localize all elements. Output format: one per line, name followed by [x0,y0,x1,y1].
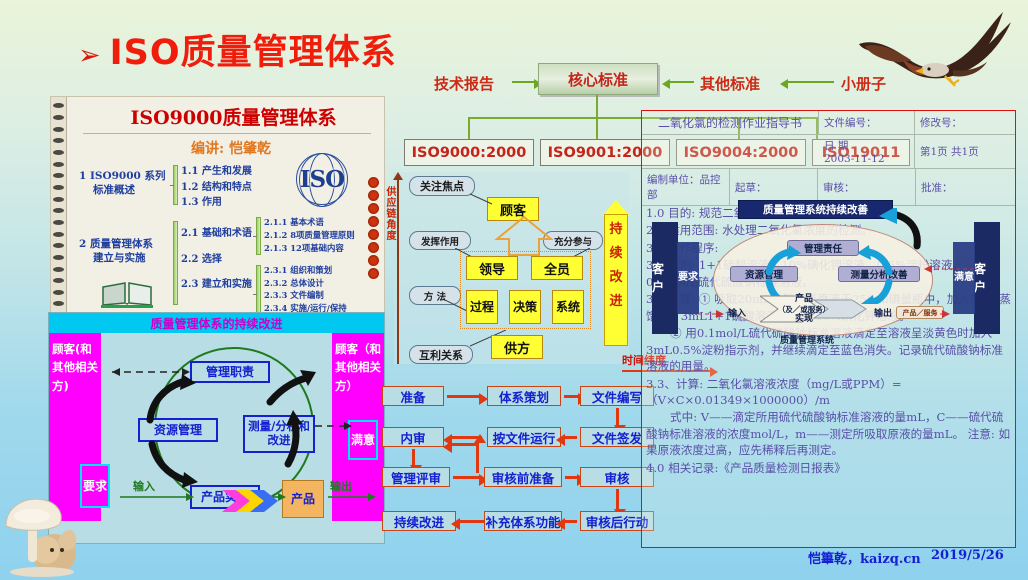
book-title: ISO9000质量管理体系 [91,103,376,130]
sublist-item: 2.2 选择 [181,247,252,273]
principle-decision[interactable]: 决策 [509,290,541,324]
qms-customer-right: 客 户 [974,222,1000,334]
book-sublist-2: 2.1 基础和术语 2.2 选择 2.3 建立和实施 [181,221,252,298]
qms-requirement-label: 要求 [678,271,698,285]
sublist-item: 1.2 结构和特点 [181,180,252,196]
sublist-item: 2.3.1 组织和策划 [264,264,347,277]
page-title: ISO质量管理体系 [110,36,397,71]
flow-step-supplement-function[interactable]: 补充体系功能 [484,511,562,531]
doc-paragraph: 4.0 相关记录:《产品质量检测日报表》 [646,460,1013,476]
green-bar-2 [173,221,178,305]
callout-mutual-benefit: 互利关系 [409,345,473,364]
doc-file-no-label: 文件编号： [819,111,915,134]
book-section-1-line2: 标准概述 [79,183,171,197]
callout-focus: 关注焦点 [409,176,475,196]
qms-customer-left: 客 户 [652,222,678,334]
sublist-item: 2.3.3 文件编制 [264,289,347,302]
doc-date-cell: 日 期 2003-11-12 [819,135,915,168]
qms-customer-right-label: 客 户 [974,260,1000,296]
spiral-binding-icon [51,97,67,313]
sublist-item: 2.1 基础和术语 [181,221,252,247]
qms-requirement: 要求 [677,242,699,314]
doc-revision-label: 修改号： [915,111,1015,134]
qms-improvement-arrow [875,208,923,250]
label-other-standard: 其他标准 [700,73,760,94]
qms-customer-left-label: 客 户 [652,260,678,296]
label-tech-report: 技术报告 [434,73,494,94]
footer-author: 恺篳乾，kaizq.cn [808,548,921,567]
book-section-2-line1: 2 质量管理体系 [79,237,179,251]
flower-decoration-icon [366,177,380,287]
sublist-item: 2.3 建立和实施 [181,272,252,298]
doc-date-value: 2003-11-12 [824,153,885,165]
footer-date: 2019/5/26 [931,548,1004,563]
sublist-item: 2.1.1 基本术语 [264,216,355,229]
doc-paragraph: 式中: V——滴定所用硫代硫酸钠标准溶液的量mL，C——硫代硫酸钠标准溶液的浓度… [646,409,1013,458]
qms-system-label: 质量管理系统 [772,333,842,346]
book-section-2: 2 质量管理体系 建立与实施 [79,237,179,265]
open-book-icon [101,279,153,309]
qms-banner: 质量管理系统持续改善 [738,200,893,219]
book-sublist-1: 1.1 产生和发展 1.2 结构和特点 1.3 作用 [181,164,252,211]
doc-paragraph: 3.3、计算: 二氧化氯溶液浓度（mg/L或PPM）=（V×C×0.01349×… [646,376,1013,409]
supply-chain-axis-label: 供应链角度 [383,186,395,241]
doc-header-row-1: 二氧化氯的检测作业指导书 文件编号： 修改号： [642,111,1015,135]
iso-logo-text: ISO [300,166,344,193]
flow-step-prepare[interactable]: 准备 [382,386,444,406]
flow-step-management-review[interactable]: 管理评审 [382,467,450,487]
pointer-line [470,192,494,206]
flow-step-system-planning[interactable]: 体系策划 [487,386,561,406]
sublist-item: 2.1.3 12项基础内容 [264,242,355,255]
slide-title-row: ➢ ISO质量管理体系 [78,36,397,71]
pdca-cycle-arrows [130,368,350,500]
flow-step-continuous-improvement[interactable]: 持续改进 [382,511,456,531]
label-booklet: 小册子 [841,73,886,94]
document-header-table: 二氧化氯的检测作业指导书 文件编号： 修改号： 日 期 2003-11-12 第… [642,111,1015,206]
qms-io-arrows [698,300,958,326]
flow-step-operate-by-doc[interactable]: 按文件运行 [487,427,561,447]
principle-process[interactable]: 过程 [466,290,498,324]
doc-title-cell: 二氧化氯的检测作业指导书 [642,111,819,134]
qms-overlay-diagram: 质量管理系统持续改善 客 户 要求 客 户 满意 管理责任 资源管理 测量分析改… [650,200,1002,348]
doc-header-row-2: 日 期 2003-11-12 第1页 共1页 [642,135,1015,169]
principle-supplier[interactable]: 供方 [491,335,543,359]
book-section-1-line1: 1 ISO9000 系列 [79,169,171,183]
slide-canvas: ➢ ISO质量管理体系 ISO9000质量管理体系 编讲: 恺肇乾 ISO 1 … [0,0,1028,580]
qms-feedback-arrow [918,258,976,280]
principle-leadership[interactable]: 领导 [466,256,518,280]
iso-logo-icon: ISO [286,152,358,206]
sublist-item: 1.3 作用 [181,195,252,211]
book-sublist-3: 2.1.1 基本术语 2.1.2 8项质量管理原则 2.1.3 12项基础内容 [264,216,355,255]
sublist-item: 2.3.2 总体设计 [264,277,347,290]
bullet-arrow-icon: ➢ [78,42,101,69]
pdca-title: 质量管理体系的持续改进 [49,313,384,333]
flow-step-pre-audit-prep[interactable]: 审核前准备 [484,467,562,487]
principle-system[interactable]: 系统 [552,290,584,324]
principle-involvement[interactable]: 全员 [531,256,583,280]
doc-date-label: 日 期 [824,138,848,153]
flow-step-internal-audit[interactable]: 内审 [382,427,444,447]
standard-box-iso9000[interactable]: ISO9000:2000 [404,139,534,166]
book-cover-panel: ISO9000质量管理体系 编讲: 恺肇乾 ISO 1 ISO9000 系列 标… [50,96,385,314]
sublist-item: 2.1.2 8项质量管理原则 [264,229,355,242]
core-standard-box: 核心标准 [538,63,658,95]
mushroom-rabbit-icon [2,492,94,578]
continuous-improvement-label: 持续改进 [607,218,625,314]
book-author: 编讲: 恺肇乾 [191,138,271,158]
colorful-chevron-icon [222,486,282,516]
divider [83,133,371,134]
sublist-item: 1.1 产生和发展 [181,164,252,180]
doc-page-label: 第1页 共1页 [915,135,1015,168]
book-section-2-line2: 建立与实施 [79,251,179,265]
book-section-1: 1 ISO9000 系列 标准概述 [79,169,171,197]
